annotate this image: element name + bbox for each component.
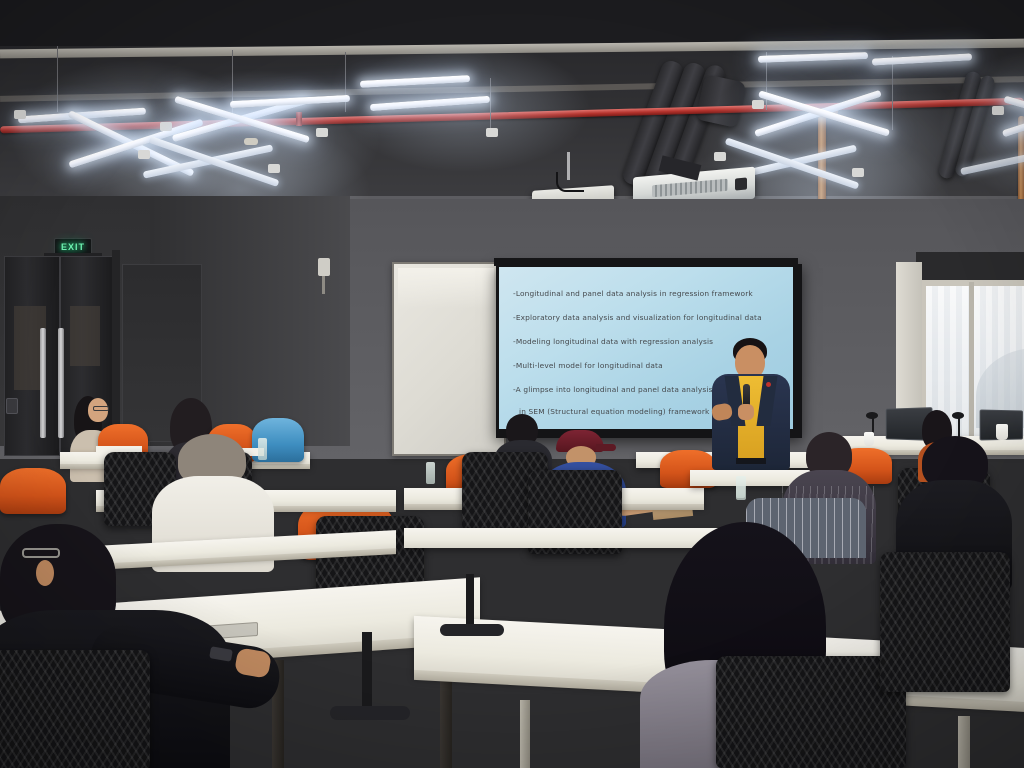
projector-cable bbox=[556, 172, 584, 192]
presenter-hand-mic bbox=[738, 404, 754, 420]
slide-line-2: -Exploratory data analysis and visualiza… bbox=[513, 313, 762, 322]
led-endcap-e1 bbox=[992, 106, 1004, 115]
presenter-belt bbox=[736, 458, 766, 464]
chair-base-mid-2 bbox=[440, 624, 504, 636]
led-endcap-d1 bbox=[752, 100, 764, 109]
wall-box-left bbox=[318, 258, 330, 276]
smoke-detector-icon bbox=[244, 138, 258, 145]
door-push-bar-left bbox=[40, 328, 46, 438]
door-card-reader bbox=[6, 398, 18, 414]
led-endcap-g2 bbox=[852, 168, 864, 177]
table-leg-front-right bbox=[520, 700, 530, 768]
led-endcap-c1 bbox=[486, 128, 498, 137]
water-bottle-left bbox=[258, 438, 267, 460]
slide-line-4: -Multi-level model for longitudinal data bbox=[513, 361, 663, 370]
ceiling-slab bbox=[0, 0, 1024, 46]
chair-orange-mid-1[interactable] bbox=[0, 468, 66, 514]
mic-head-right bbox=[952, 412, 964, 419]
coffee-cup-center-right bbox=[864, 432, 874, 446]
window-valance bbox=[916, 252, 1024, 282]
seminar-room-photo: EXIT -Longitudinal and panel data analys… bbox=[0, 0, 1024, 768]
led-endcap-a1 bbox=[14, 110, 26, 119]
door-panel-right bbox=[70, 306, 100, 366]
led-endcap-f2 bbox=[268, 164, 280, 173]
ac-control-panel bbox=[735, 177, 747, 190]
table-leg-front-left-2 bbox=[440, 680, 452, 768]
led-endcap-f1 bbox=[138, 150, 150, 159]
attendee-foreground-suit-ear bbox=[36, 560, 54, 586]
window-mullion bbox=[969, 282, 974, 438]
mic-head-left bbox=[866, 412, 878, 419]
chair-base-mid-1 bbox=[330, 706, 410, 720]
chair-post-mid-1 bbox=[362, 632, 372, 710]
table-secondrow-right bbox=[404, 528, 734, 548]
chair-mesh-right-front[interactable] bbox=[880, 552, 1010, 692]
attendee-foreground-suit-glasses-icon bbox=[22, 548, 60, 558]
wall-box-bracket bbox=[322, 276, 325, 294]
exit-sign-label: EXIT bbox=[61, 242, 85, 252]
table-leg-front-right-2 bbox=[958, 716, 970, 768]
presenter-lapel-pin-icon bbox=[766, 382, 771, 387]
slide-line-5: -A glimpse into longitudinal and panel d… bbox=[513, 385, 713, 394]
door-push-bar-right bbox=[58, 328, 64, 438]
water-bottle-center bbox=[426, 462, 435, 484]
slide-line-1: -Longitudinal and panel data analysis in… bbox=[513, 289, 753, 298]
attendee-blue-polo-cap-brim bbox=[596, 444, 616, 451]
screen-roller-housing bbox=[494, 258, 798, 266]
chair-mesh-foreground-center[interactable] bbox=[716, 656, 906, 768]
coffee-cup-right bbox=[996, 424, 1008, 440]
slide-line-6: in SEM (Structural equation modeling) fr… bbox=[519, 407, 709, 416]
slide-line-3: -Modeling longitudinal data with regress… bbox=[513, 337, 713, 346]
water-bottle-presenter bbox=[736, 476, 746, 500]
led-endcap-g1 bbox=[714, 152, 726, 161]
attendee-left-glasses-eyewear-icon bbox=[93, 406, 109, 411]
whiteboard-highlight bbox=[398, 268, 494, 308]
chair-post-mid-2 bbox=[466, 574, 474, 630]
chair-mesh-foreground-left[interactable] bbox=[0, 650, 150, 768]
